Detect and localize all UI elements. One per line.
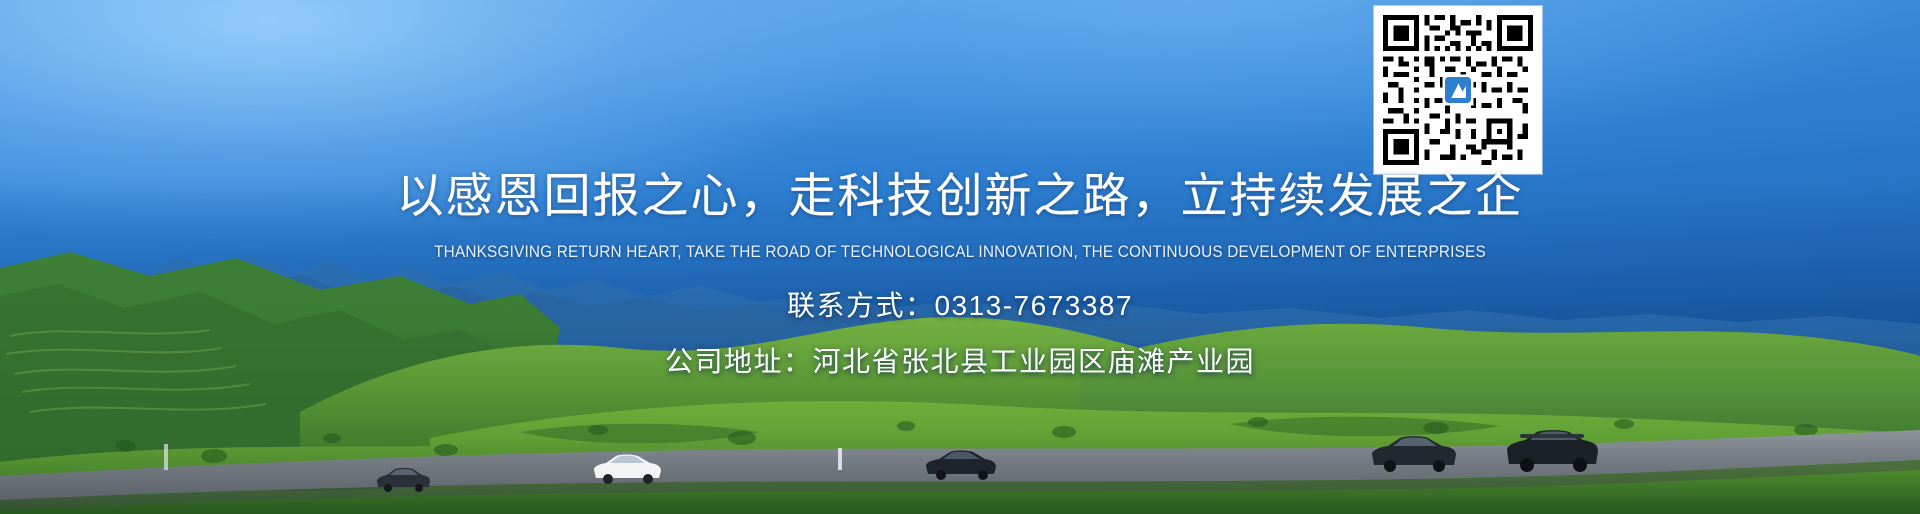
contact-phone-line: 联系方式：0313-7673387 — [0, 292, 1920, 320]
banner-headline: 以感恩回报之心，走科技创新之路，立持续发展之企 — [0, 172, 1920, 219]
banner-subheadline: THANKSGIVING RETURN HEART, TAKE THE ROAD… — [67, 244, 1853, 261]
hero-banner: 以感恩回报之心，走科技创新之路，立持续发展之企 THANKSGIVING RET… — [0, 0, 1920, 514]
banner-copy: 以感恩回报之心，走科技创新之路，立持续发展之企 THANKSGIVING RET… — [0, 0, 1920, 514]
company-address-line: 公司地址：河北省张北县工业园区庙滩产业园 — [0, 348, 1920, 376]
